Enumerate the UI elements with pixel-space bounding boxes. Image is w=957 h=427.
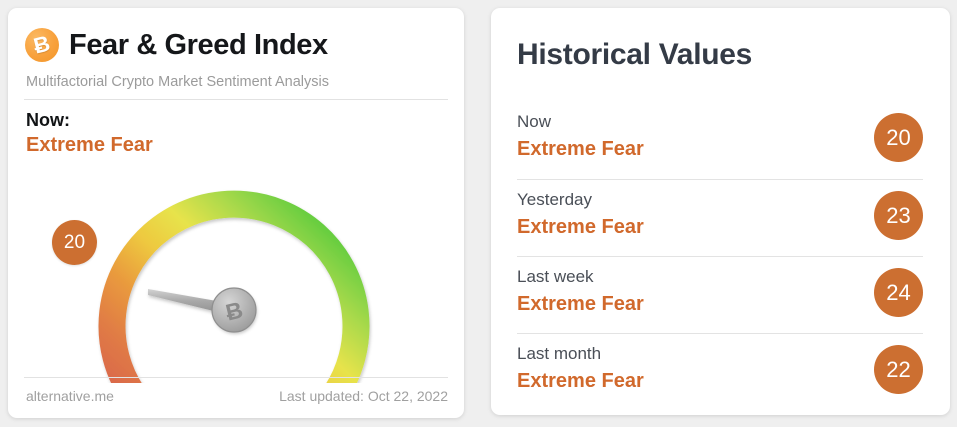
- page-title: Fear & Greed Index: [69, 29, 328, 62]
- footer-divider: [24, 377, 448, 378]
- status-badge: 23: [874, 191, 923, 240]
- row-period-label: Yesterday: [517, 189, 923, 211]
- gauge-card: Ƀ Fear & Greed Index Multifactorial Cryp…: [8, 8, 464, 418]
- list-item[interactable]: Last month Extreme Fear 22: [517, 333, 923, 410]
- row-classification: Extreme Fear: [517, 136, 923, 162]
- list-item[interactable]: Now Extreme Fear 20: [517, 102, 923, 179]
- row-classification: Extreme Fear: [517, 368, 923, 394]
- page-subtitle: Multifactorial Crypto Market Sentiment A…: [26, 74, 329, 90]
- bitcoin-glyph: Ƀ: [32, 32, 53, 57]
- gauge-card-header: Ƀ Fear & Greed Index: [25, 28, 328, 62]
- row-score: 24: [886, 280, 910, 306]
- now-label: Now:: [26, 110, 70, 131]
- header-divider: [24, 99, 448, 100]
- fear-greed-gauge: Ƀ: [66, 158, 411, 383]
- status-badge: 20: [874, 113, 923, 162]
- footer-last-updated: Last updated: Oct 22, 2022: [279, 388, 448, 404]
- row-period-label: Last month: [517, 343, 923, 365]
- row-classification: Extreme Fear: [517, 291, 923, 317]
- status-badge: 24: [874, 268, 923, 317]
- bitcoin-icon: Ƀ: [25, 28, 59, 62]
- row-period-label: Last week: [517, 266, 923, 288]
- row-score: 23: [886, 203, 910, 229]
- historical-list: Now Extreme Fear 20 Yesterday Extreme Fe…: [517, 102, 923, 410]
- historical-values-card: Historical Values Now Extreme Fear 20 Ye…: [491, 8, 950, 415]
- now-classification: Extreme Fear: [26, 134, 153, 157]
- list-item[interactable]: Yesterday Extreme Fear 23: [517, 179, 923, 256]
- gauge-value-badge: 20: [52, 220, 97, 265]
- list-item[interactable]: Last week Extreme Fear 24: [517, 256, 923, 333]
- row-score: 20: [886, 125, 910, 151]
- row-score: 22: [886, 357, 910, 383]
- fear-greed-widget: Ƀ Fear & Greed Index Multifactorial Cryp…: [0, 0, 957, 427]
- gauge-value-text: 20: [64, 232, 85, 254]
- gauge-hub: Ƀ: [212, 288, 256, 332]
- footer-source[interactable]: alternative.me: [26, 388, 114, 404]
- row-classification: Extreme Fear: [517, 214, 923, 240]
- historical-title: Historical Values: [517, 38, 752, 72]
- row-period-label: Now: [517, 111, 923, 133]
- status-badge: 22: [874, 345, 923, 394]
